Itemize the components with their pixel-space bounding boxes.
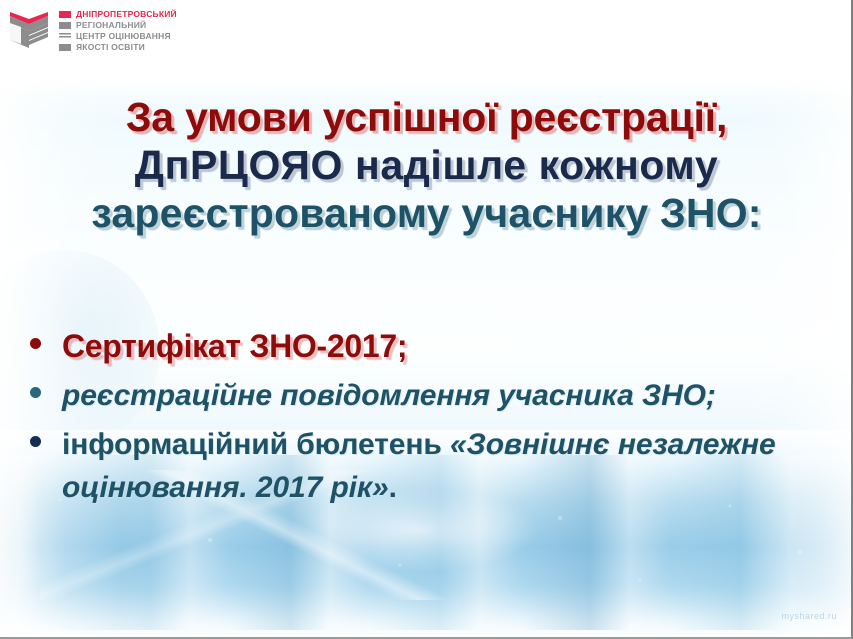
logo-bar-icon (59, 44, 71, 51)
bullet-dot-icon (30, 387, 41, 398)
logo-bar-icon (59, 22, 71, 29)
logo-word-2: РЕГІОНАЛЬНИЙ (76, 20, 146, 30)
title-line-3: зареєстрованому учаснику ЗНО: (8, 189, 845, 237)
logo-word-4: ЯКОСТІ ОСВІТИ (76, 42, 145, 52)
logo-text-block: ДНІПРОПЕТРОВСЬКИЙ РЕГІОНАЛЬНИЙ ЦЕНТР ОЦІ… (59, 7, 177, 53)
open-book-logo-mark-icon (8, 7, 52, 51)
title-line-1: За умови успішної реєстрації, (8, 93, 845, 141)
logo-bar-lines-icon (59, 33, 71, 40)
logo-line-4: ЯКОСТІ ОСВІТИ (59, 42, 177, 52)
list-item: реєстраційне повідомлення учасника ЗНО; (22, 374, 842, 417)
presentation-slide: ДНІПРОПЕТРОВСЬКИЙ РЕГІОНАЛЬНИЙ ЦЕНТР ОЦІ… (0, 0, 853, 639)
list-item-label: реєстраційне повідомлення учасника ЗНО; (62, 374, 716, 417)
list-item-label-tail: . (389, 471, 397, 504)
bullet-list: Сертифікат ЗНО-2017; реєстраційне повідо… (22, 325, 842, 515)
bullet-dot-icon (30, 436, 41, 447)
list-item: Сертифікат ЗНО-2017; (22, 325, 842, 368)
logo-word-1: ДНІПРОПЕТРОВСЬКИЙ (76, 9, 177, 19)
title-line-2: ДпРЦОЯО надішле кожному (8, 141, 845, 189)
logo-line-1: ДНІПРОПЕТРОВСЬКИЙ (59, 9, 177, 19)
organization-logo: ДНІПРОПЕТРОВСЬКИЙ РЕГІОНАЛЬНИЙ ЦЕНТР ОЦІ… (8, 7, 177, 53)
logo-word-3: ЦЕНТР ОЦІНЮВАННЯ (76, 31, 171, 41)
logo-line-2: РЕГІОНАЛЬНИЙ (59, 20, 177, 30)
list-item-label: інформаційний бюлетень «Зовнішнє незалеж… (62, 423, 842, 509)
list-item-label-plain: інформаційний бюлетень (62, 428, 450, 461)
logo-line-3: ЦЕНТР ОЦІНЮВАННЯ (59, 31, 177, 41)
list-item-label: Сертифікат ЗНО-2017; (62, 325, 407, 368)
slide-title: За умови успішної реєстрації, ДпРЦОЯО на… (8, 93, 845, 237)
bullet-dot-icon (30, 338, 41, 349)
logo-bar-icon (59, 11, 71, 18)
list-item: інформаційний бюлетень «Зовнішнє незалеж… (22, 423, 842, 509)
background-watermark: myshared.ru (781, 611, 837, 621)
